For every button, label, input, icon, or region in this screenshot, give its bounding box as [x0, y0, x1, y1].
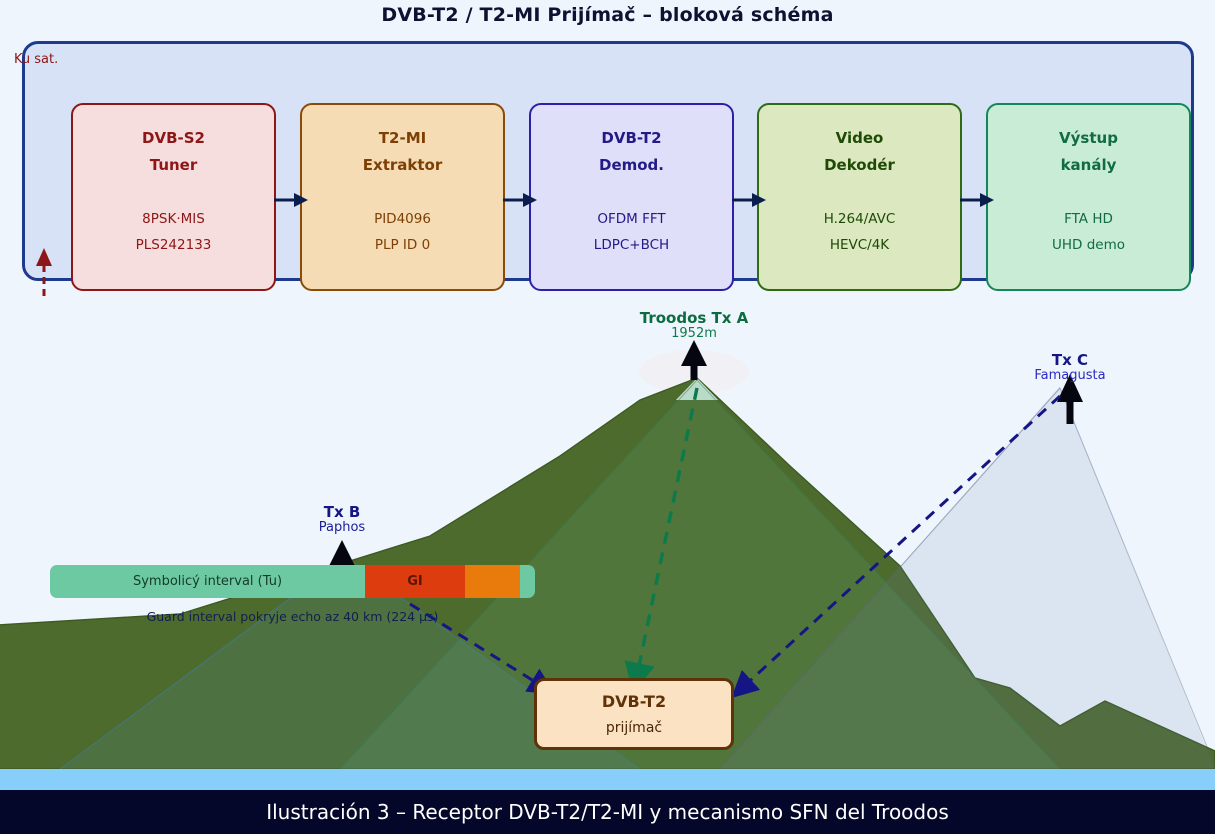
block-title: Výstup kanály: [1059, 105, 1118, 173]
block-title: Video Dekodér: [824, 105, 895, 173]
arrow-right-icon: [960, 192, 994, 208]
label-troodos-tx-a: Troodos Tx A 1952m: [594, 310, 794, 341]
segment-symbol-interval: Symbolicý interval (Tu): [50, 565, 365, 598]
figure-caption: Ilustración 3 – Receptor DVB-T2/T2-MI y …: [266, 800, 949, 824]
dvb-t2-receiver-box[interactable]: DVB-T2 prijímač: [534, 678, 734, 750]
block-details: PID4096 PLP ID 0: [374, 173, 431, 252]
block-t2mi-extractor[interactable]: T2-MI Extraktor PID4096 PLP ID 0: [300, 103, 505, 291]
block-diagram-panel: DVB-S2 Tuner 8PSK·MIS PLS242133 T2-MI Ex…: [22, 41, 1194, 281]
page-title: DVB-T2 / T2-MI Prijímač – bloková schéma: [0, 0, 1215, 30]
arrow-right-icon: [732, 192, 766, 208]
arrow-right-icon: [274, 192, 308, 208]
block-dvb-t2-demodulator[interactable]: DVB-T2 Demod. OFDM FFT LDPC+BCH: [529, 103, 734, 291]
guard-interval-bar: Symbolicý interval (Tu) GI: [50, 565, 535, 598]
guard-interval-caption: Guard interval pokryje echo az 40 km (22…: [50, 609, 535, 624]
segment-guard-interval: GI: [365, 565, 465, 598]
block-output-channels[interactable]: Výstup kanály FTA HD UHD demo: [986, 103, 1191, 291]
figure-caption-bar: Ilustración 3 – Receptor DVB-T2/T2-MI y …: [0, 790, 1215, 834]
block-details: OFDM FFT LDPC+BCH: [594, 173, 669, 252]
segment-echo: [465, 565, 520, 598]
sea-band-foreground: [0, 769, 1215, 792]
arrow-right-icon: [503, 192, 537, 208]
block-video-decoder[interactable]: Video Dekodér H.264/AVC HEVC/4K: [757, 103, 962, 291]
block-details: H.264/AVC HEVC/4K: [824, 173, 896, 252]
block-details: 8PSK·MIS PLS242133: [136, 173, 212, 252]
label-tx-c-famagusta: Tx C Famagusta: [985, 352, 1155, 383]
block-title: DVB-T2 Demod.: [599, 105, 664, 173]
block-title: DVB-S2 Tuner: [142, 105, 205, 173]
ku-sat-label: Ku sat.: [14, 52, 58, 67]
label-tx-b-paphos: Tx B Paphos: [262, 504, 422, 535]
block-details: FTA HD UHD demo: [1052, 173, 1125, 252]
receiver-subtitle: prijímač: [606, 720, 662, 736]
figure-canvas: DVB-T2 / T2-MI Prijímač – bloková schéma…: [0, 0, 1215, 834]
receiver-title: DVB-T2: [602, 692, 666, 711]
segment-next-symbol: [520, 565, 535, 598]
block-title: T2-MI Extraktor: [363, 105, 442, 173]
